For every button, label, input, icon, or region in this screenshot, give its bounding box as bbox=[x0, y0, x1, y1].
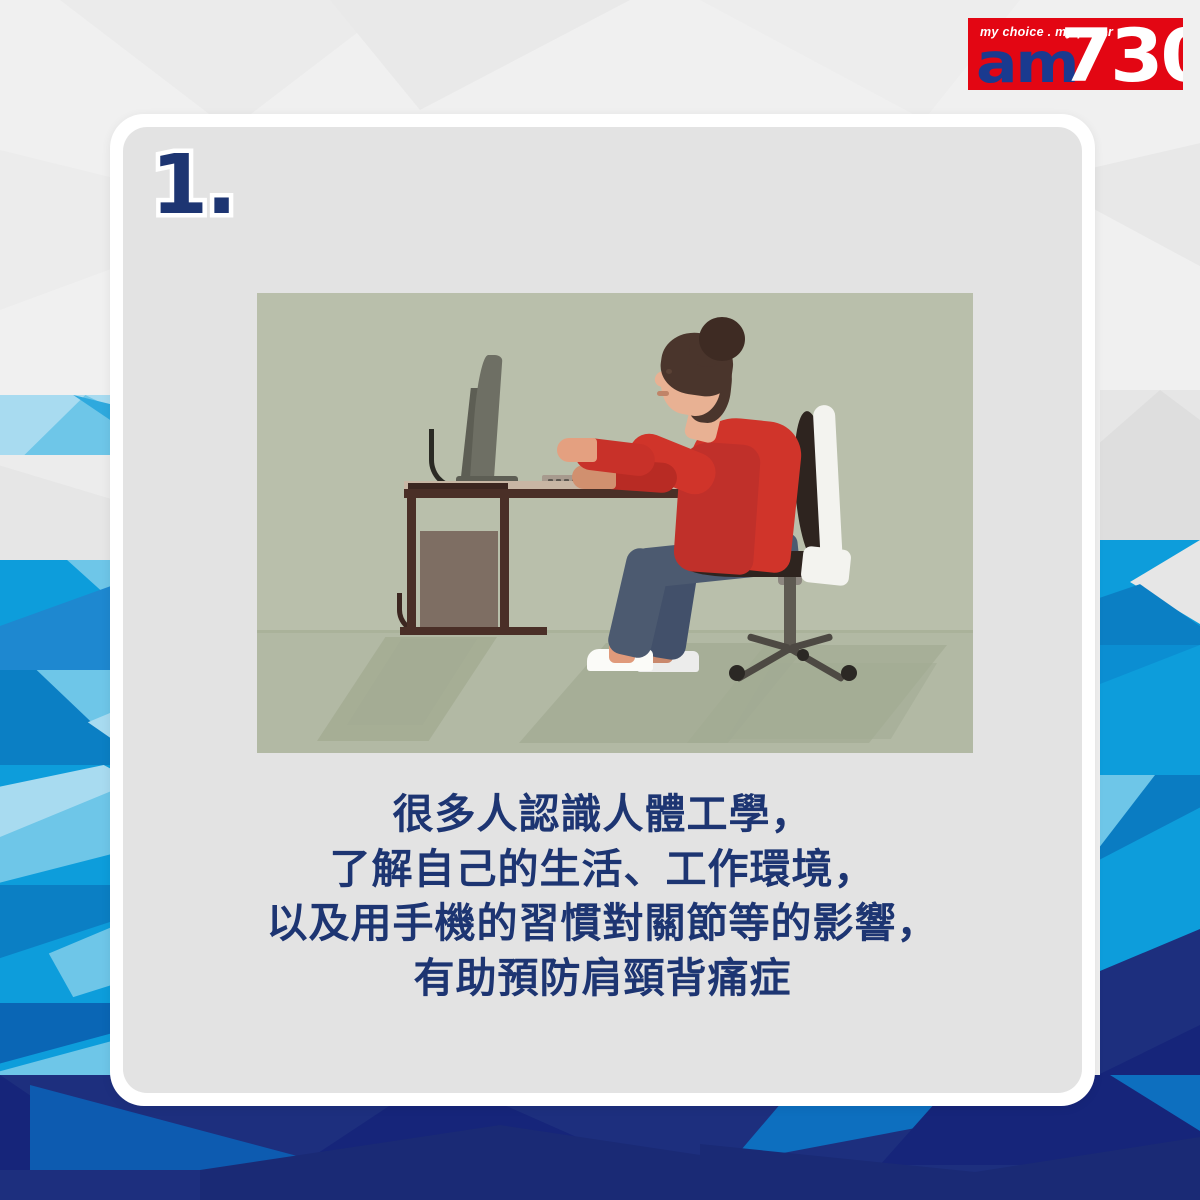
bg-bottom-tri-7 bbox=[200, 1125, 700, 1200]
illustration-ergonomics-desk bbox=[257, 293, 973, 753]
chair-caster-left bbox=[729, 665, 745, 681]
chair-caster-right bbox=[841, 665, 857, 681]
am730-logo[interactable]: my choice . my paper am 730 bbox=[968, 18, 1183, 90]
monitor-screen bbox=[469, 355, 502, 487]
content-card: 1. bbox=[110, 114, 1095, 1106]
chair-caster-back bbox=[797, 649, 809, 661]
poster-canvas: my choice . my paper am 730 1. bbox=[0, 0, 1200, 1200]
step-number: 1. bbox=[151, 145, 235, 227]
chair-post bbox=[784, 575, 796, 653]
desk-edge bbox=[404, 489, 724, 498]
caption-line-1: 很多人認識人體工學， bbox=[123, 787, 1082, 842]
chair-seat-frame bbox=[800, 546, 852, 587]
caption-line-4: 有助預防肩頸背痛症 bbox=[123, 951, 1082, 1006]
desk-leg-right bbox=[500, 489, 509, 634]
desk-leg-left bbox=[407, 489, 416, 634]
content-card-inner: 1. bbox=[123, 127, 1082, 1093]
caption-line-3: 以及用手機的習慣對關節等的影響， bbox=[123, 896, 1082, 951]
hair-bun bbox=[699, 317, 745, 361]
hand-front bbox=[557, 438, 597, 462]
desk-foot-rail bbox=[400, 627, 547, 635]
caption-line-2: 了解自己的生活、工作環境， bbox=[123, 842, 1082, 897]
caption-block: 很多人認識人體工學， 了解自己的生活、工作環境， 以及用手機的習慣對關節等的影響… bbox=[123, 787, 1082, 1005]
mouth bbox=[657, 391, 669, 396]
eye bbox=[666, 369, 672, 374]
logo-730-text: 730 bbox=[1060, 20, 1183, 90]
